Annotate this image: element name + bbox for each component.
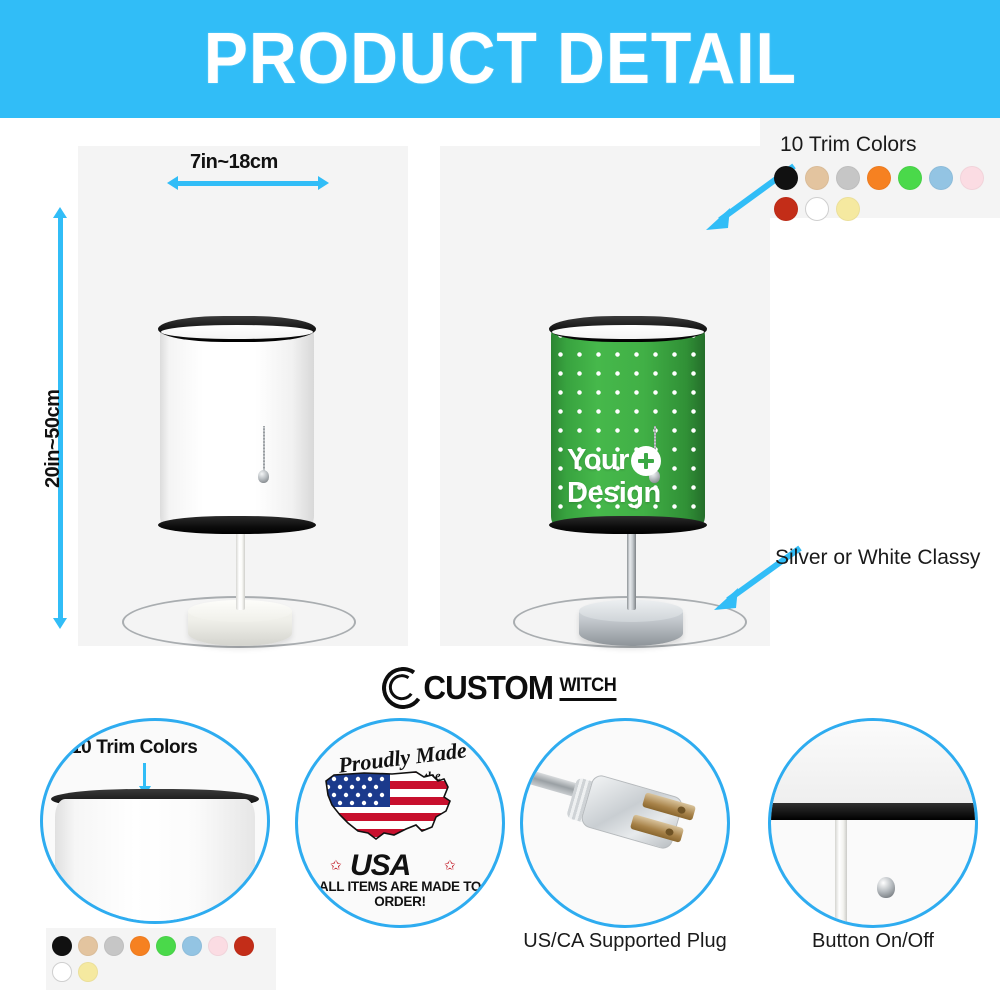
- lamp-trim-bottom: [158, 516, 316, 534]
- usa-badge-line4: ALL ITEMS ARE MADE TO ORDER!: [298, 879, 502, 909]
- trim-color-swatch-light-blue[interactable]: [929, 166, 953, 190]
- trim-color-swatch-orange[interactable]: [867, 166, 891, 190]
- lamp-trim-top: [158, 316, 316, 342]
- lamp-trim-top: [549, 316, 707, 342]
- width-dimension-label: 7in~18cm: [190, 151, 278, 174]
- trim-color-swatch-orange[interactable]: [130, 936, 150, 956]
- lamp-shade-surface: [160, 326, 314, 526]
- logo-secondary-text: WITCH: [559, 675, 616, 701]
- feature-circle: [520, 718, 730, 928]
- trim-colors-feature: 10 Trim Colors: [40, 718, 270, 1000]
- height-dimension-label: 20in~50cm: [42, 390, 65, 488]
- trim-color-swatch-pink[interactable]: [208, 936, 228, 956]
- lamp-shade: Your Design: [551, 316, 705, 538]
- width-dimension-arrow: [178, 181, 318, 186]
- your-design-text: Your Design: [567, 444, 697, 510]
- trim-colors-swatches-bottom: [46, 928, 276, 990]
- logo-secondary-wrap: WITCH: [558, 675, 618, 701]
- trim-color-swatch-yellow[interactable]: [78, 962, 98, 982]
- arrow-down-icon: [143, 763, 146, 787]
- feature-caption: Button On/Off: [758, 930, 988, 953]
- trim-color-swatch-green[interactable]: [898, 166, 922, 190]
- switch-feature: Button On/Off: [768, 718, 988, 968]
- lamp-shade: [160, 316, 314, 538]
- base-finish-callout: Silver or White Classy: [775, 546, 980, 570]
- trim-color-swatch-pink[interactable]: [960, 166, 984, 190]
- feature-inner-label: 10 Trim Colors: [71, 737, 197, 759]
- trim-color-swatch-black[interactable]: [52, 936, 72, 956]
- trim-color-swatch-tan[interactable]: [78, 936, 98, 956]
- trim-color-swatch-black[interactable]: [774, 166, 798, 190]
- trim-color-swatch-red[interactable]: [234, 936, 254, 956]
- c-monogram-icon: [379, 664, 428, 713]
- product-stage: 7in~18cm 20in~50cm Your Design 10 Trim C: [0, 118, 1000, 663]
- plus-circle-icon: [631, 446, 661, 476]
- trim-color-swatch-white[interactable]: [805, 197, 829, 221]
- feature-circle: 10 Trim Colors: [40, 718, 270, 924]
- lamp-shade-closeup: [768, 721, 978, 807]
- feature-circle: [768, 718, 978, 928]
- trim-colors-swatches-top: [774, 166, 1000, 221]
- page-header-banner: PRODUCT DETAIL: [0, 0, 1000, 118]
- usa-badge-line3: USA: [350, 849, 410, 883]
- usa-flag-map-icon: [320, 765, 456, 845]
- star-left-icon: ✩: [330, 857, 342, 874]
- feature-circle: Proudly Made in the: [295, 718, 505, 928]
- trim-color-swatch-light-blue[interactable]: [182, 936, 202, 956]
- design-line-1: Your: [567, 444, 629, 476]
- brand-logo: CUSTOM WITCH: [0, 663, 1000, 713]
- trim-color-swatch-red[interactable]: [774, 197, 798, 221]
- pull-chain-bead-closeup[interactable]: [877, 877, 895, 898]
- lamp-pole-closeup: [835, 820, 847, 928]
- plug-feature: US/CA Supported Plug: [520, 718, 740, 968]
- trim-color-swatch-gray[interactable]: [104, 936, 124, 956]
- trim-color-swatch-yellow[interactable]: [836, 197, 860, 221]
- logo-primary-text: CUSTOM: [424, 669, 554, 707]
- trim-color-swatch-green[interactable]: [156, 936, 176, 956]
- design-line-2: Design: [567, 477, 661, 509]
- made-in-usa-feature: Proudly Made in the: [295, 718, 505, 928]
- trim-color-swatch-gray[interactable]: [836, 166, 860, 190]
- page-title: PRODUCT DETAIL: [203, 18, 796, 100]
- lamp-trim-bottom: [549, 516, 707, 534]
- trim-color-swatch-white[interactable]: [52, 962, 72, 982]
- lamp-shade-closeup: [55, 799, 255, 924]
- pull-chain-closeup[interactable]: [884, 820, 887, 882]
- lamp-trim-closeup: [768, 803, 978, 820]
- feature-caption: US/CA Supported Plug: [500, 930, 750, 953]
- pull-chain-bead[interactable]: [258, 470, 269, 483]
- trim-colors-title: 10 Trim Colors: [780, 133, 917, 157]
- trim-color-swatch-tan[interactable]: [805, 166, 829, 190]
- star-right-icon: ✩: [444, 857, 456, 874]
- pull-chain[interactable]: [263, 426, 265, 476]
